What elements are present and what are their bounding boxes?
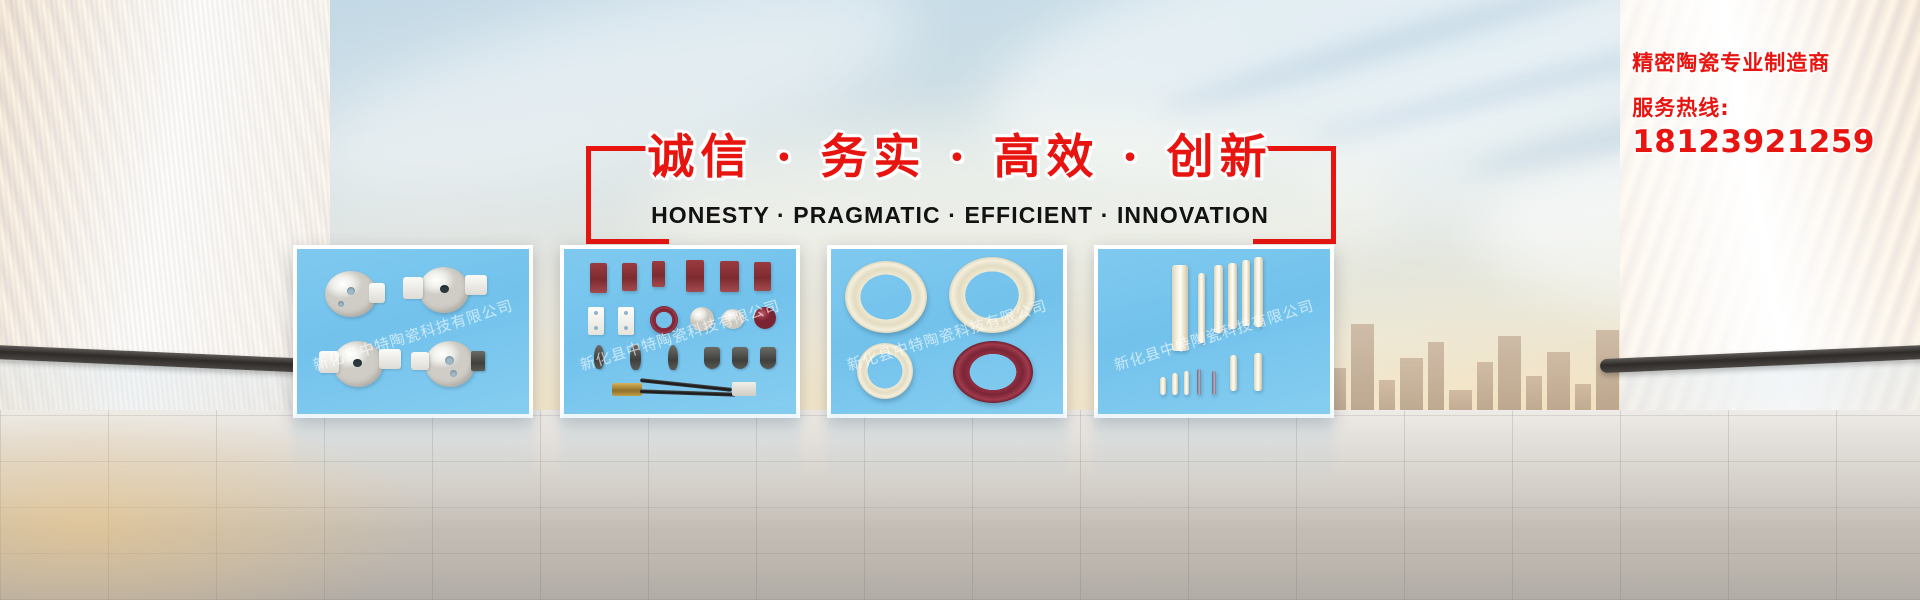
product-card-connectors[interactable]: 新化县中特陶瓷科技有限公司 [560, 245, 800, 418]
product-card-rings[interactable]: 新化县中特陶瓷科技有限公司 [827, 245, 1067, 418]
product-photo: 新化县中特陶瓷科技有限公司 [831, 249, 1063, 414]
ceramic-rod [1184, 371, 1189, 395]
photo-watermark: 新化县中特陶瓷科技有限公司 [577, 294, 782, 375]
skyline-building [1351, 324, 1374, 420]
company-tagline: 精密陶瓷专业制造商 [1632, 52, 1875, 75]
ceramic-plate [588, 307, 604, 335]
ceramic-rod [1197, 369, 1201, 395]
hotline-label: 服务热线: [1632, 97, 1875, 120]
ceramic-ring [949, 257, 1035, 333]
product-photo: 新化县中特陶瓷科技有限公司 [564, 249, 796, 414]
ceramic-rod [1214, 265, 1223, 333]
ceramic-rod [1212, 371, 1216, 395]
contact-block: 精密陶瓷专业制造商 服务热线: 18123921259 [1632, 52, 1875, 159]
product-card-lamp-holders[interactable]: 新化县中特陶瓷科技有限公司 [293, 245, 533, 418]
ceramic-rod [1254, 257, 1263, 327]
ceramic-lamp-holder [333, 341, 383, 387]
hotline-number[interactable]: 18123921259 [1632, 126, 1875, 159]
ceramic-plate [618, 307, 634, 335]
skyline-building [1596, 330, 1619, 420]
slogan-chinese: 诚信 · 务实 · 高效 · 创新 [560, 130, 1360, 181]
ceramic-rod [1242, 260, 1250, 326]
product-card-rods[interactable]: 新化县中特陶瓷科技有限公司 [1094, 245, 1334, 418]
ceramic-rod [1172, 265, 1188, 351]
ceramic-rod [1254, 353, 1262, 391]
skyline-building [1498, 336, 1521, 420]
ceramic-ring [857, 343, 913, 399]
skyline-building [1428, 342, 1444, 420]
ceramic-lamp-holder [419, 267, 469, 313]
ceramic-rod [1160, 377, 1166, 395]
card-reflection [560, 410, 800, 488]
headline-block: 诚信 · 务实 · 高效 · 创新 HONESTY · PRAGMATIC · … [560, 130, 1360, 229]
ceramic-rod [1172, 373, 1178, 395]
ceramic-ring-maroon [953, 341, 1033, 403]
ceramic-lamp-holder [425, 341, 475, 387]
ceramic-rod [1230, 355, 1237, 391]
ceramic-rod [1228, 263, 1237, 329]
card-reflection [1094, 410, 1334, 488]
product-photo: 新化县中特陶瓷科技有限公司 [1098, 249, 1330, 414]
ceramic-ring [845, 261, 927, 333]
ceramic-rod [1198, 273, 1205, 343]
product-photo: 新化县中特陶瓷科技有限公司 [297, 249, 529, 414]
slogan-english: HONESTY · PRAGMATIC · EFFICIENT · INNOVA… [560, 181, 1360, 229]
product-card-row: 新化县中特陶瓷科技有限公司 [293, 245, 1334, 418]
card-reflection [827, 410, 1067, 488]
card-reflection [293, 410, 533, 488]
promo-banner: 诚信 · 务实 · 高效 · 创新 HONESTY · PRAGMATIC · … [0, 0, 1920, 600]
